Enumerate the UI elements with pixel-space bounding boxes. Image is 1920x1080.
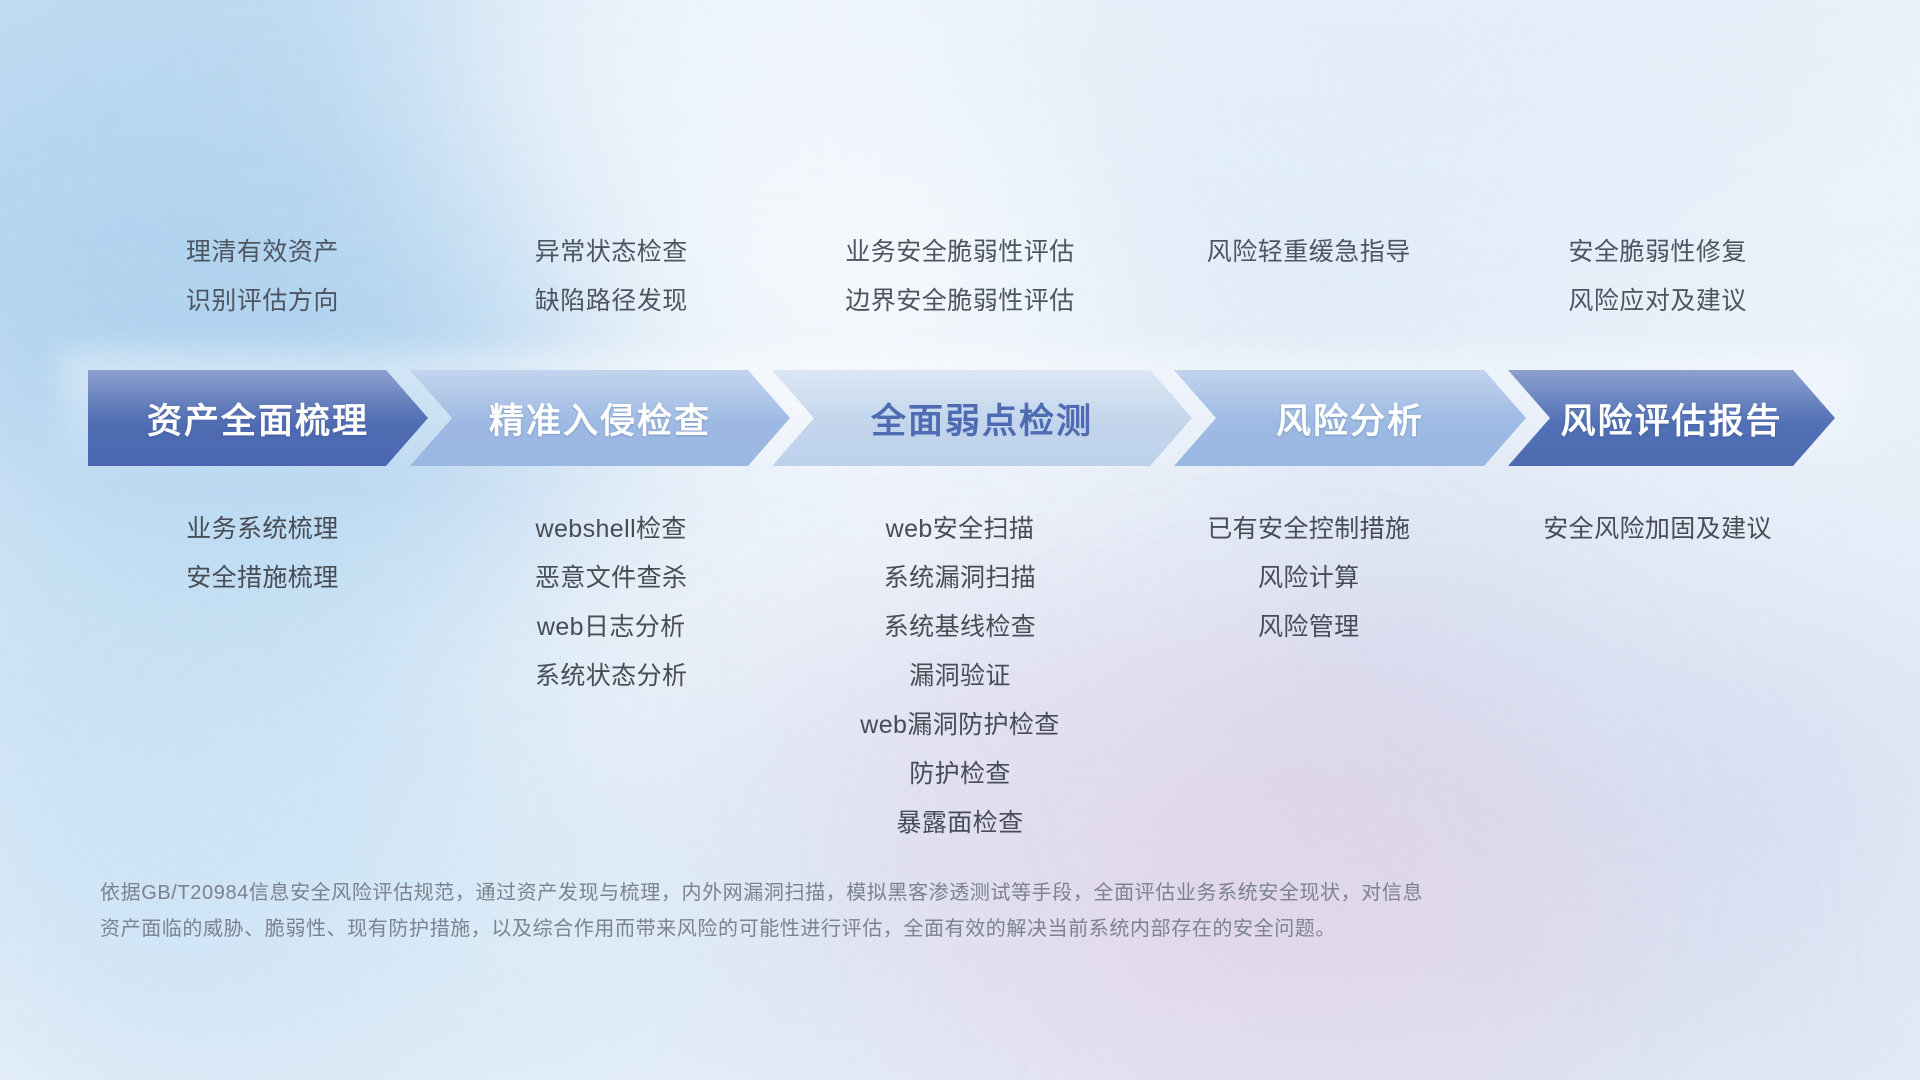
stage-chevron-4[interactable]: 风险分析 [1174,370,1526,466]
bottom-column-1: 业务系统梳理 安全措施梳理 [88,505,437,848]
list-item: 安全措施梳理 [88,554,437,603]
top-column-4: 风险轻重缓急指导 [1134,228,1483,326]
top-item: 缺陷路径发现 [437,277,786,326]
top-item: 异常状态检查 [437,228,786,277]
top-item: 安全脆弱性修复 [1483,228,1832,277]
stage-label: 精准入侵检查 [489,393,711,444]
stage-label: 全面弱点检测 [871,393,1093,444]
list-item: 风险管理 [1134,603,1483,652]
bottom-column-2: webshell检查 恶意文件查杀 web日志分析 系统状态分析 [437,505,786,848]
bottom-column-4: 已有安全控制措施 风险计算 风险管理 [1134,505,1483,848]
stage-label: 风险评估报告 [1560,393,1782,444]
list-item: 暴露面检查 [786,799,1135,848]
stage-chevron-2[interactable]: 精准入侵检查 [410,370,790,466]
list-item: web漏洞防护检查 [786,701,1135,750]
list-item: 安全风险加固及建议 [1483,505,1832,554]
top-column-3: 业务安全脆弱性评估 边界安全脆弱性评估 [786,228,1135,326]
stage-label: 资产全面梳理 [147,393,369,444]
list-item: webshell检查 [437,505,786,554]
stage-label: 风险分析 [1276,393,1424,444]
top-item: 业务安全脆弱性评估 [786,228,1135,277]
stage-chevron-3[interactable]: 全面弱点检测 [772,370,1192,466]
top-item: 理清有效资产 [88,228,437,277]
top-column-1: 理清有效资产 识别评估方向 [88,228,437,326]
top-column-2: 异常状态检查 缺陷路径发现 [437,228,786,326]
top-item: 风险轻重缓急指导 [1134,228,1483,277]
top-item: 边界安全脆弱性评估 [786,277,1135,326]
list-item: 系统漏洞扫描 [786,554,1135,603]
footer-line-1: 依据GB/T20984信息安全风险评估规范，通过资产发现与梳理，内外网漏洞扫描，… [100,875,1680,911]
top-column-5: 安全脆弱性修复 风险应对及建议 [1483,228,1832,326]
stage-chevron-1[interactable]: 资产全面梳理 [88,370,428,466]
list-item: 恶意文件查杀 [437,554,786,603]
top-item: 识别评估方向 [88,277,437,326]
list-item: 系统基线检查 [786,603,1135,652]
list-item: 防护检查 [786,750,1135,799]
list-item: 已有安全控制措施 [1134,505,1483,554]
bottom-detail-lists: 业务系统梳理 安全措施梳理 webshell检查 恶意文件查杀 web日志分析 … [0,505,1920,848]
list-item: web安全扫描 [786,505,1135,554]
bottom-column-5: 安全风险加固及建议 [1483,505,1832,848]
stage-chevron-5[interactable]: 风险评估报告 [1508,370,1835,466]
process-diagram: 理清有效资产 识别评估方向 异常状态检查 缺陷路径发现 业务安全脆弱性评估 边界… [0,0,1920,1080]
list-item: 漏洞验证 [786,652,1135,701]
footer-description: 依据GB/T20984信息安全风险评估规范，通过资产发现与梳理，内外网漏洞扫描，… [100,875,1680,947]
list-item: 业务系统梳理 [88,505,437,554]
top-annotations: 理清有效资产 识别评估方向 异常状态检查 缺陷路径发现 业务安全脆弱性评估 边界… [0,228,1920,326]
top-item: 风险应对及建议 [1483,277,1832,326]
bottom-column-3: web安全扫描 系统漏洞扫描 系统基线检查 漏洞验证 web漏洞防护检查 防护检… [786,505,1135,848]
list-item: 风险计算 [1134,554,1483,603]
footer-line-2: 资产面临的威胁、脆弱性、现有防护措施，以及综合作用而带来风险的可能性进行评估，全… [100,911,1680,947]
stage-chevron-bar: 资产全面梳理 精准入侵检查 全面弱点检测 风险分析 风险评估报告 [88,370,1835,466]
list-item: 系统状态分析 [437,652,786,701]
list-item: web日志分析 [437,603,786,652]
